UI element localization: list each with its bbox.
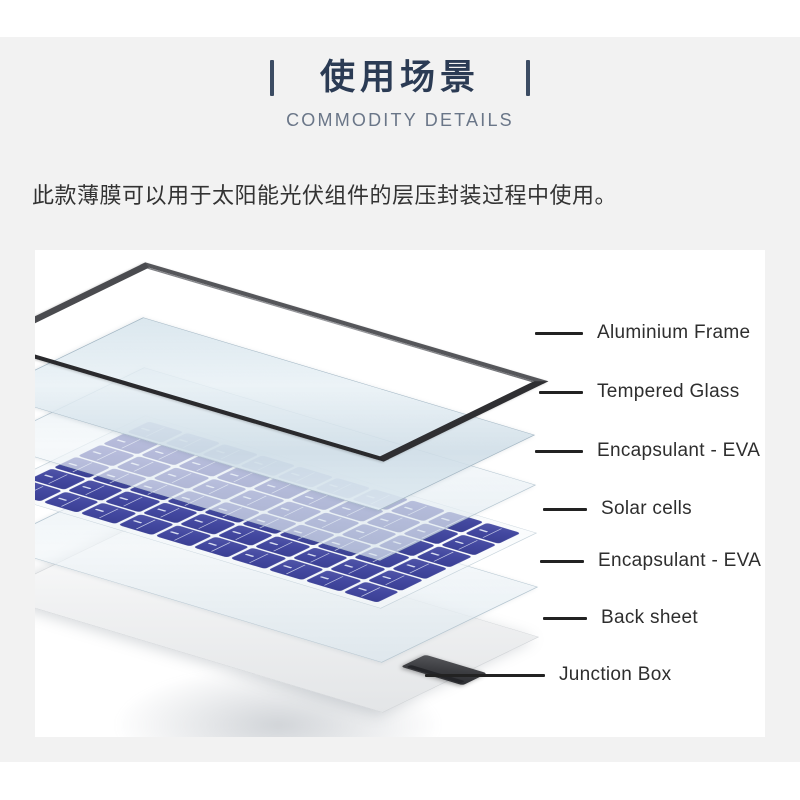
callout-encapsulant-eva-upper: Encapsulant - EVA: [535, 440, 760, 462]
callout-aluminium-frame: Aluminium Frame: [535, 322, 750, 344]
callout-label: Solar cells: [601, 498, 692, 520]
callout-label: Junction Box: [559, 664, 671, 686]
callout-labels: Aluminium Frame Tempered Glass Encapsula…: [35, 250, 765, 737]
diagram-panel: Aluminium Frame Tempered Glass Encapsula…: [35, 250, 765, 737]
leader-line-icon: [539, 391, 583, 394]
title-row: 使用场景: [0, 55, 800, 101]
callout-solar-cells: Solar cells: [543, 498, 692, 520]
callout-tempered-glass: Tempered Glass: [539, 381, 740, 403]
vertical-bar-icon-left: [270, 60, 274, 96]
leader-line-icon: [425, 674, 545, 677]
callout-label: Encapsulant - EVA: [598, 550, 761, 572]
leader-line-icon: [540, 560, 584, 563]
callout-label: Tempered Glass: [597, 381, 740, 403]
leader-line-icon: [543, 508, 587, 511]
section-header: 使用场景 COMMODITY DETAILS: [0, 55, 800, 131]
leader-line-icon: [535, 450, 583, 453]
callout-label: Back sheet: [601, 607, 698, 629]
description-text: 此款薄膜可以用于太阳能光伏组件的层压封装过程中使用。: [32, 178, 617, 210]
vertical-bar-icon-right: [526, 60, 530, 96]
callout-label: Aluminium Frame: [597, 322, 750, 344]
page-subtitle: COMMODITY DETAILS: [0, 110, 800, 131]
callout-encapsulant-eva-lower: Encapsulant - EVA: [540, 550, 761, 572]
product-detail-page: 使用场景 COMMODITY DETAILS 此款薄膜可以用于太阳能光伏组件的层…: [0, 0, 800, 800]
leader-line-icon: [543, 617, 587, 620]
callout-label: Encapsulant - EVA: [597, 440, 760, 462]
page-title: 使用场景: [320, 57, 480, 99]
leader-line-icon: [535, 332, 583, 335]
callout-junction-box: Junction Box: [425, 664, 671, 686]
callout-back-sheet: Back sheet: [543, 607, 698, 629]
